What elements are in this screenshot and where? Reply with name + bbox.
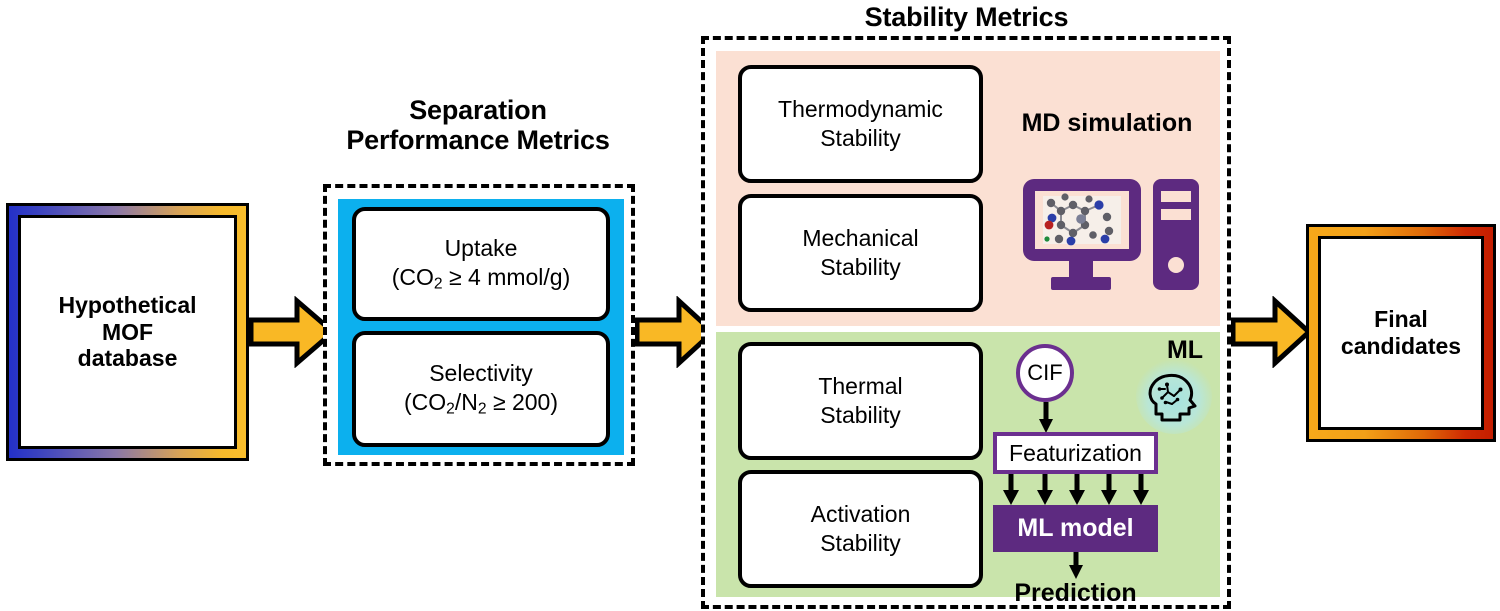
stability-box-thermodynamic: Thermodynamic Stability (738, 65, 983, 183)
stability-box-mechanical: Mechanical Stability (738, 194, 983, 312)
metric-uptake-name: Uptake (392, 234, 571, 263)
metric-box-uptake: Uptake (CO2 ≥ 4 mmol/g) (352, 207, 610, 321)
database-label-line2: MOF (102, 319, 153, 346)
stability-section-title: Stability Metrics (703, 0, 1230, 34)
cif-input-node: CIF (1016, 344, 1074, 402)
stability-title-text: Stability Metrics (865, 2, 1069, 32)
brain-head-circuit-icon (1136, 358, 1212, 434)
metric-uptake-criterion: (CO2 ≥ 4 mmol/g) (392, 263, 571, 294)
ml-model-label: ML model (1017, 514, 1133, 543)
hypothetical-mof-database-box: Hypothetical MOF database (6, 203, 249, 461)
thermodynamic-line2: Stability (778, 124, 943, 153)
md-simulation-heading: MD simulation (1002, 107, 1212, 139)
prediction-label-text: Prediction (1014, 579, 1136, 608)
cif-label: CIF (1027, 360, 1062, 386)
database-label: Hypothetical MOF database (58, 292, 196, 373)
final-candidates-box: Final candidates (1306, 224, 1496, 442)
stability-box-activation: Activation Stability (738, 470, 983, 588)
ml-model-box: ML model (993, 505, 1158, 552)
computer-monitor-molecule-icon (1021, 173, 1201, 303)
metric-box-selectivity: Selectivity (CO2/N2 ≥ 200) (352, 331, 610, 447)
thermodynamic-line1: Thermodynamic (778, 95, 943, 124)
database-label-line3: database (78, 345, 178, 372)
stability-box-thermal: Thermal Stability (738, 342, 983, 460)
md-simulation-heading-text: MD simulation (1022, 109, 1193, 138)
mechanical-line2: Stability (802, 253, 918, 282)
final-candidates-label: Final candidates (1341, 306, 1461, 360)
arrow-cif-to-featurization (1036, 402, 1056, 434)
activation-line2: Stability (811, 529, 911, 558)
arrow-stability-to-final (1231, 296, 1311, 368)
ml-panel: Thermal Stability Activation Stability M… (716, 332, 1220, 597)
separation-title-line1: Separation (409, 95, 547, 125)
metric-selectivity-name: Selectivity (404, 359, 558, 388)
separation-section-title: Separation Performance Metrics (318, 92, 638, 158)
separation-cyan-panel: Uptake (CO2 ≥ 4 mmol/g) Selectivity (CO2… (338, 199, 624, 455)
mechanical-line1: Mechanical (802, 224, 918, 253)
featurization-box: Featurization (993, 432, 1158, 474)
thermal-line2: Stability (818, 401, 902, 430)
stability-metrics-container: Thermodynamic Stability Mechanical Stabi… (701, 36, 1231, 609)
database-label-line1: Hypothetical (58, 292, 196, 319)
activation-line1: Activation (811, 500, 911, 529)
final-label-line1: Final (1374, 306, 1428, 333)
prediction-label: Prediction (993, 578, 1158, 608)
final-label-line2: candidates (1341, 333, 1461, 360)
fan-arrows-featurization-to-model (993, 474, 1158, 506)
metric-selectivity-criterion: (CO2/N2 ≥ 200) (404, 388, 558, 419)
separation-title-line2: Performance Metrics (346, 125, 609, 155)
thermal-line1: Thermal (818, 372, 902, 401)
featurization-label: Featurization (1009, 440, 1142, 467)
separation-metrics-container: Uptake (CO2 ≥ 4 mmol/g) Selectivity (CO2… (323, 184, 635, 466)
arrow-model-to-prediction (1066, 552, 1086, 580)
md-simulation-panel: Thermodynamic Stability Mechanical Stabi… (716, 51, 1220, 326)
